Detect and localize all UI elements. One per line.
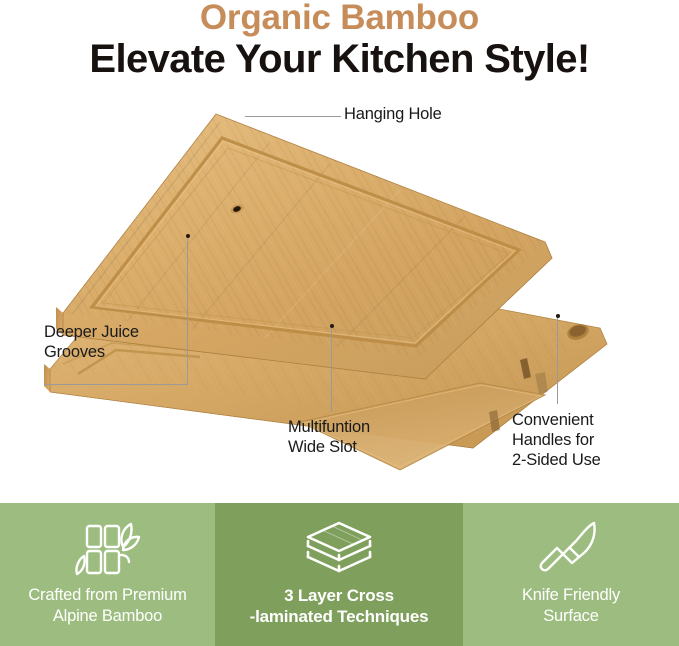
callout-label-hanging-hole: Hanging Hole — [344, 104, 442, 124]
feature-panel-alpine-bamboo: Crafted from Premium Alpine Bamboo — [0, 503, 215, 646]
headline-organic-bamboo: Organic Bamboo — [0, 0, 679, 38]
leader-line-hanging-hole — [245, 116, 341, 117]
feature-bar: Crafted from Premium Alpine Bamboo — [0, 503, 679, 646]
feature-text-alpine-bamboo: Crafted from Premium Alpine Bamboo — [28, 585, 186, 627]
leader-line-juice-grooves-vertical — [187, 238, 188, 385]
stacked-layers-icon — [296, 517, 382, 579]
callout-label-multifunction-wide-slot: Multifuntion Wide Slot — [288, 417, 370, 457]
feature-panel-knife-friendly: Knife Friendly Surface — [463, 503, 679, 646]
feature-text-three-layer-cross: 3 Layer Cross -laminated Techniques — [250, 585, 429, 627]
callout-label-convenient-handles: Convenient Handles for 2-Sided Use — [512, 410, 601, 470]
bamboo-stalks-icon — [69, 517, 147, 579]
leader-line-juice-grooves-underline — [44, 384, 188, 385]
feature-panel-three-layer-cross: 3 Layer Cross -laminated Techniques — [215, 503, 463, 646]
callout-label-deeper-juice-grooves: Deeper Juice Grooves — [44, 322, 139, 362]
headline-elevate-kitchen-style: Elevate Your Kitchen Style! — [0, 36, 679, 82]
feature-text-knife-friendly: Knife Friendly Surface — [522, 585, 620, 627]
chef-knife-icon — [532, 517, 610, 579]
header-banner: Organic Bamboo Elevate Your Kitchen Styl… — [0, 0, 679, 92]
leader-line-handles — [557, 318, 558, 404]
leader-line-wide-slot — [331, 328, 332, 412]
